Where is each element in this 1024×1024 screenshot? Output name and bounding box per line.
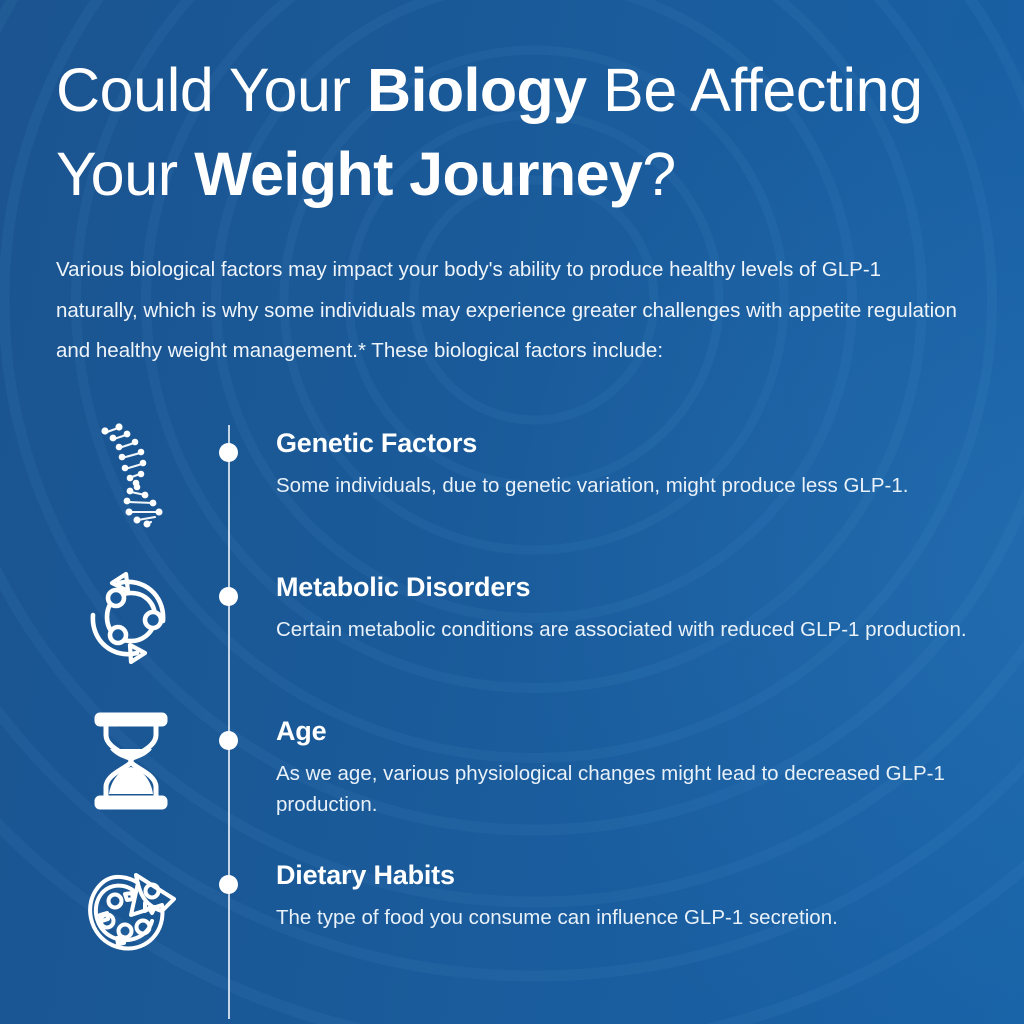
factor-description: As we age, various physiological changes… <box>276 758 968 820</box>
factor-description: Some individuals, due to genetic variati… <box>276 470 968 501</box>
timeline-dot <box>206 561 250 606</box>
headline-part-1: Could Your <box>56 56 367 124</box>
factor-title: Genetic Factors <box>276 427 968 459</box>
list-item: Dietary Habits The type of food you cons… <box>56 849 968 975</box>
factor-content: Dietary Habits The type of food you cons… <box>250 849 968 934</box>
intro-paragraph: Various biological factors may impact yo… <box>56 250 968 371</box>
list-item: Metabolic Disorders Certain metabolic co… <box>56 561 968 687</box>
factors-timeline: Genetic Factors Some individuals, due to… <box>56 417 968 975</box>
factor-content: Age As we age, various physiological cha… <box>250 705 968 821</box>
content-wrapper: Could Your Biology Be AffectingYour Weig… <box>0 0 1024 975</box>
factor-content: Metabolic Disorders Certain metabolic co… <box>250 561 968 646</box>
headline-question-mark: ? <box>642 140 676 208</box>
factor-description: The type of food you consume can influen… <box>276 902 968 933</box>
timeline-dot <box>206 705 250 750</box>
timeline-dot <box>206 849 250 894</box>
factor-description: Certain metabolic conditions are associa… <box>276 614 968 645</box>
factor-content: Genetic Factors Some individuals, due to… <box>250 417 968 502</box>
pizza-slice-icon <box>56 849 206 961</box>
page-title: Could Your Biology Be AffectingYour Weig… <box>56 48 968 216</box>
factor-title: Metabolic Disorders <box>276 571 968 603</box>
headline-emphasis-weight-journey: Weight Journey <box>194 140 642 208</box>
factor-title: Dietary Habits <box>276 859 968 891</box>
headline-part-4: Your <box>56 140 194 208</box>
dna-helix-icon <box>56 417 206 533</box>
list-item: Genetic Factors Some individuals, due to… <box>56 417 968 543</box>
hourglass-icon <box>56 705 206 813</box>
headline-emphasis-biology: Biology <box>367 56 586 124</box>
factor-title: Age <box>276 715 968 747</box>
infographic-canvas: Could Your Biology Be AffectingYour Weig… <box>0 0 1024 1024</box>
metabolism-molecule-icon <box>56 561 206 669</box>
list-item: Age As we age, various physiological cha… <box>56 705 968 831</box>
timeline-dot <box>206 417 250 462</box>
headline-part-3: Be Affecting <box>587 56 923 124</box>
